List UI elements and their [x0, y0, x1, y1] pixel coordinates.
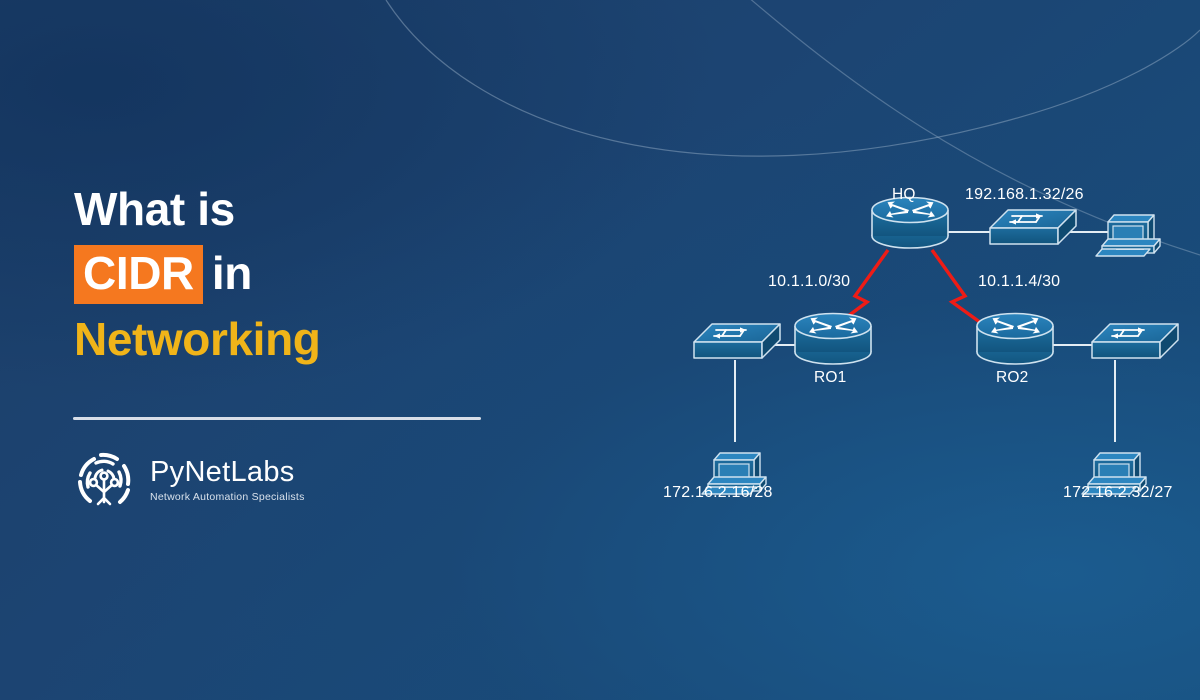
switch-hq[interactable]	[990, 210, 1076, 244]
label-wan-right: 10.1.1.4/30	[978, 273, 1060, 291]
brand-name: PyNetLabs	[150, 458, 306, 487]
label-ro1: RO1	[814, 369, 846, 387]
headline-line-3: Networking	[74, 308, 544, 370]
switch-left[interactable]	[694, 324, 780, 358]
ethernet-links	[735, 232, 1115, 442]
headline-highlight-cidr: CIDR	[74, 245, 203, 304]
switch-right[interactable]	[1092, 324, 1178, 358]
headline-line-1: What is	[74, 178, 544, 240]
title-divider	[73, 417, 481, 420]
network-topology-diagram: HQ 192.168.1.32/26 10.1.1.0/30 10.1.1.4/…	[640, 170, 1200, 530]
headline-line-2-suffix: in	[212, 247, 252, 299]
router-ro2[interactable]	[977, 314, 1053, 365]
network-signal-circuit-icon	[72, 448, 136, 512]
poster-canvas: What is CIDRin Networking	[0, 0, 1200, 700]
label-ro2: RO2	[996, 369, 1028, 387]
router-ro1[interactable]	[795, 314, 871, 365]
brand-tagline: Network Automation Specialists	[150, 492, 305, 503]
label-wan-left: 10.1.1.0/30	[768, 273, 850, 291]
page-title: What is CIDRin Networking	[74, 178, 544, 370]
router-hq[interactable]	[872, 198, 948, 249]
brand-lockup: PyNetLabs Network Automation Specialists	[72, 448, 306, 512]
label-hq: HQ	[892, 186, 916, 204]
left-panel: What is CIDRin Networking	[0, 0, 560, 700]
pc-hq[interactable]	[1096, 215, 1160, 256]
headline-line-2: CIDRin	[74, 242, 544, 304]
label-lan-left: 172.16.2.16/28	[663, 484, 773, 502]
label-lan-right: 172.16.2.32/27	[1063, 484, 1173, 502]
label-hq-lan: 192.168.1.32/26	[965, 186, 1084, 204]
brand-text: PyNetLabs Network Automation Specialists	[150, 458, 306, 503]
